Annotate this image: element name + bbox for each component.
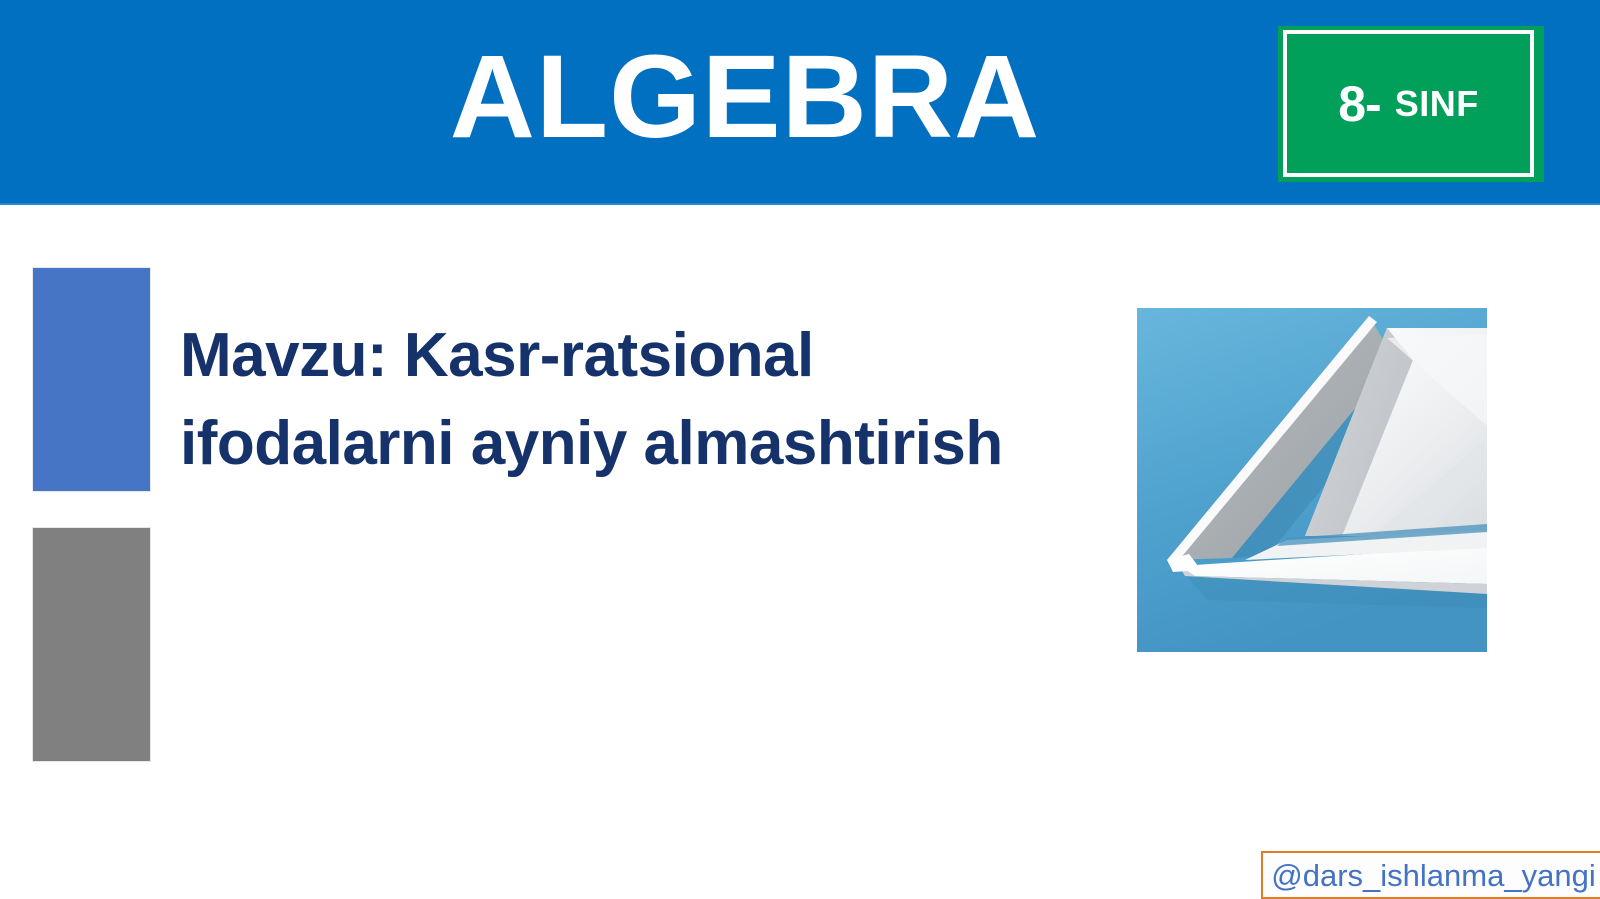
watermark-badge: @dars_ishlanma_yangi (1261, 851, 1600, 899)
watermark-text: @dars_ishlanma_yangi (1271, 860, 1595, 891)
grade-badge: 8- SINF (1278, 26, 1544, 182)
header-band: ALGEBRA 8- SINF (0, 0, 1600, 205)
accent-bar-grey (33, 528, 150, 761)
topic-heading: Mavzu: Kasr-ratsional ifodalarni ayniy a… (180, 312, 1040, 488)
decorative-triangle-image (1137, 308, 1487, 652)
accent-bar-blue (33, 268, 150, 491)
grade-label: SINF (1395, 86, 1479, 122)
grade-badge-inner-frame: 8- SINF (1283, 30, 1534, 177)
triangle-illustration-icon (1137, 308, 1487, 652)
page-title: ALGEBRA (0, 38, 1490, 156)
grade-number: 8- (1338, 79, 1380, 129)
presentation-slide: ALGEBRA 8- SINF Mavzu: Kasr-ratsional if… (0, 0, 1600, 899)
